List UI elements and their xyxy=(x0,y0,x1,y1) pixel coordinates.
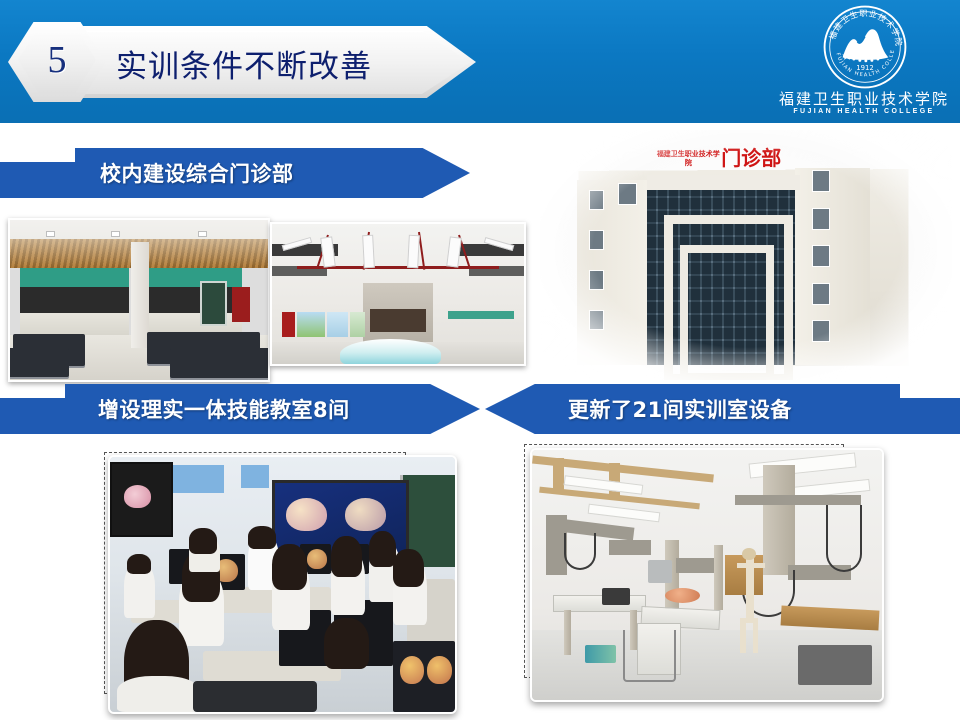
table-leg xyxy=(564,610,571,655)
atrium-display-screen xyxy=(370,309,425,331)
wall-poster xyxy=(297,312,325,337)
presentation-slide: 5 实训条件不断改善 1912 xyxy=(0,0,960,720)
page-title: 实训条件不断改善 xyxy=(116,40,446,86)
college-emblem-icon: 1912 福建卫生职业技术学院 FUJIAN HEALTH COLLEGE xyxy=(822,4,908,90)
atrium-green-signboard xyxy=(448,311,514,319)
clinic-waiting-hall-photo xyxy=(8,218,270,382)
ceiling-rail-post xyxy=(553,458,564,493)
emblem-year: 1912 xyxy=(856,64,874,72)
college-name-en: FUJIAN HEALTH COLLEGE xyxy=(778,108,950,115)
ceiling-light-tube xyxy=(407,235,420,268)
student-hair xyxy=(248,526,276,549)
reception-counter-right xyxy=(144,268,242,287)
student-hair xyxy=(127,554,151,574)
wall-poster xyxy=(327,312,347,337)
student-hair xyxy=(369,531,397,567)
wall-blue-panel xyxy=(241,465,269,488)
equipment-box xyxy=(602,588,630,606)
atrium-kiosk xyxy=(282,312,295,337)
student-hair xyxy=(272,544,307,590)
brain-anatomy-graphic xyxy=(345,498,386,531)
banner-lab-equipment: 更新了21间实训室设备 xyxy=(485,384,960,434)
bucky-stand-post xyxy=(714,545,723,610)
skeleton-model-skull xyxy=(742,548,756,561)
banner-label: 增设理实一体技能教室8间 xyxy=(98,384,350,434)
student xyxy=(117,676,200,712)
student-hair xyxy=(324,618,369,669)
student-hair xyxy=(331,536,362,577)
counter-window-left xyxy=(20,287,128,313)
college-logo: 1912 福建卫生职业技术学院 FUJIAN HEALTH COLLEGE 福建… xyxy=(778,4,950,119)
wall-blue-panel xyxy=(169,465,224,493)
student-hair xyxy=(393,549,424,587)
slide-title-plate: 5 实训条件不断改善 xyxy=(8,26,476,98)
section-number: 5 xyxy=(48,41,67,79)
brain-anatomy-graphic xyxy=(400,656,424,684)
equipment-cabinet xyxy=(798,645,872,685)
hall-glass-door xyxy=(200,281,227,327)
waiting-chair-row xyxy=(8,348,69,377)
slide-header: 5 实训条件不断改善 1912 xyxy=(0,0,960,123)
classroom-chair xyxy=(193,681,317,712)
ceiling-light-tube xyxy=(362,235,375,268)
waiting-chair-row xyxy=(170,348,270,378)
ceiling-light xyxy=(111,231,120,237)
reception-counter-left xyxy=(20,268,128,287)
radiology-training-lab-photo xyxy=(530,448,884,702)
counter-desk-left xyxy=(20,313,128,335)
atrium-reception-desk xyxy=(340,339,441,364)
skeleton-model-leg xyxy=(740,618,745,653)
clinic-building-exterior-photo: 福建卫生职业技术学院 门诊部 xyxy=(540,130,952,380)
wall-poster xyxy=(350,312,365,337)
training-phantom-model xyxy=(665,588,700,603)
ceiling-light xyxy=(198,231,207,237)
banner-campus-clinic: 校内建设综合门诊部 xyxy=(0,148,470,198)
balcony-rail-right xyxy=(458,244,524,257)
counter-window-right xyxy=(144,287,242,313)
clinic-atrium-lobby-photo xyxy=(270,222,526,366)
wall-bucky-stand xyxy=(725,555,764,595)
xray-tube-head xyxy=(609,540,651,555)
ceiling-light xyxy=(46,231,55,237)
xray-support-arm xyxy=(735,495,861,505)
banner-label: 校内建设综合门诊部 xyxy=(100,148,294,198)
storage-bins xyxy=(585,645,617,663)
brain-anatomy-graphic xyxy=(427,656,451,684)
photo-vignette xyxy=(540,130,952,380)
college-name-cn: 福建卫生职业技术学院 xyxy=(778,88,950,109)
trolley-handle xyxy=(623,630,676,682)
student-hair xyxy=(189,528,217,554)
ceiling-mounted-xray-column xyxy=(763,465,795,575)
integrated-skills-classroom-photo xyxy=(108,455,457,714)
equipment-cable xyxy=(826,505,862,572)
section-number-hexagon-inner: 5 xyxy=(18,27,96,93)
hall-info-kiosk xyxy=(232,287,250,322)
equipment-cable xyxy=(564,533,596,570)
control-panel xyxy=(648,560,673,583)
brain-anatomy-graphic xyxy=(286,498,327,531)
brain-anatomy-graphic xyxy=(124,485,152,508)
skeleton-model-ribs xyxy=(737,563,765,568)
banner-label: 更新了21间实训室设备 xyxy=(568,384,792,434)
skeleton-model-leg xyxy=(753,618,758,653)
brain-anatomy-graphic xyxy=(307,549,328,569)
banner-skills-classrooms: 增设理实一体技能教室8间 xyxy=(0,384,480,434)
